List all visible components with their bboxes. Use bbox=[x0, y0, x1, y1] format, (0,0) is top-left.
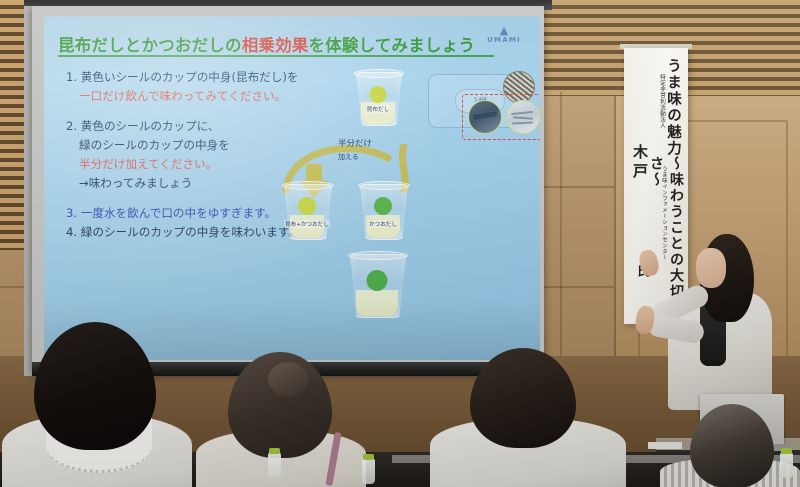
hanging-scroll: うま味の魅力 特定非営利活動法人 〜味わうことの大切さ〜 うま味インフォメーショ… bbox=[624, 48, 688, 324]
annotation-line-2: 加える bbox=[338, 151, 372, 164]
scroll-subtitle-top: 特定非営利活動法人 bbox=[658, 74, 666, 129]
cup-rim bbox=[348, 251, 408, 260]
cup-green-sticker bbox=[350, 254, 404, 316]
add-half-annotation: 半分だけ 加える bbox=[338, 138, 372, 164]
kombu-photo bbox=[468, 100, 502, 134]
cup-katsuo-dashi: かつおだし bbox=[360, 184, 406, 238]
umami-logo-word: UMAMI bbox=[480, 36, 528, 44]
water-bottle-3 bbox=[780, 452, 793, 478]
wall-seam-vertical bbox=[560, 92, 562, 392]
kombu-strip bbox=[473, 111, 497, 119]
slide-title-suffix: を体験してみましょう bbox=[309, 36, 476, 55]
cup-rim bbox=[358, 181, 410, 190]
annotation-line-1: 半分だけ bbox=[338, 138, 372, 151]
audience-2-hair-bun bbox=[268, 362, 308, 396]
cup-sticker-dot bbox=[370, 86, 387, 103]
step-1-line-2: 一口だけ飲んで味わってみてください。 bbox=[66, 87, 366, 106]
cup-sticker-dot bbox=[367, 270, 388, 291]
scroll-subtitle-bottom: うま味インフォメーションセンター bbox=[660, 166, 668, 260]
cup-label: 昆布+かつおだし bbox=[284, 220, 330, 228]
presenter-face bbox=[696, 248, 726, 288]
cup-kombu-dashi: 昆布だし bbox=[356, 72, 400, 124]
slide-title: 昆布だしとかつおだしの相乗効果を体験してみましょう bbox=[58, 32, 510, 56]
bottle-cap bbox=[269, 448, 280, 454]
slide-title-prefix: 昆布だしとかつおだしの bbox=[58, 36, 242, 55]
bottle-cap bbox=[363, 454, 374, 460]
water-bottle-1 bbox=[268, 452, 281, 478]
cup-label: かつおだし bbox=[368, 220, 398, 228]
projected-slide: 昆布だしとかつおだしの相乗効果を体験してみましょう ▲ UMAMI 1. 黄色い… bbox=[44, 16, 540, 360]
water-bottle-2 bbox=[362, 458, 375, 484]
cup-sticker-dot bbox=[374, 197, 392, 215]
step-1-line-1: 1. 黄色いシールのカップの中身(昆布だし)を bbox=[66, 68, 366, 87]
cup-sticker-dot bbox=[298, 197, 316, 215]
katsuo-flakes-photo bbox=[506, 100, 540, 134]
seminar-room-photo: 昆布だしとかつおだしの相乗効果を体験してみましょう ▲ UMAMI 1. 黄色い… bbox=[0, 0, 800, 487]
slide-title-highlight: 相乗効果 bbox=[242, 36, 309, 55]
umami-logo: ▲ UMAMI bbox=[480, 26, 528, 44]
cup-kombu-katsuo-dashi: 昆布+かつおだし bbox=[284, 184, 330, 238]
cup-liquid bbox=[356, 290, 397, 316]
title-underline bbox=[58, 55, 494, 57]
bottle-cap bbox=[781, 448, 792, 454]
scroll-title-top: うま味の魅力 bbox=[663, 58, 684, 157]
scroll-presenter-name: 木戸 bbox=[630, 144, 651, 182]
paper-on-table bbox=[648, 442, 682, 449]
cup-rim bbox=[354, 69, 404, 78]
cup-label: 昆布だし bbox=[366, 105, 390, 113]
umami-mark-icon: ▲ bbox=[480, 26, 528, 36]
cup-rim bbox=[282, 181, 334, 190]
